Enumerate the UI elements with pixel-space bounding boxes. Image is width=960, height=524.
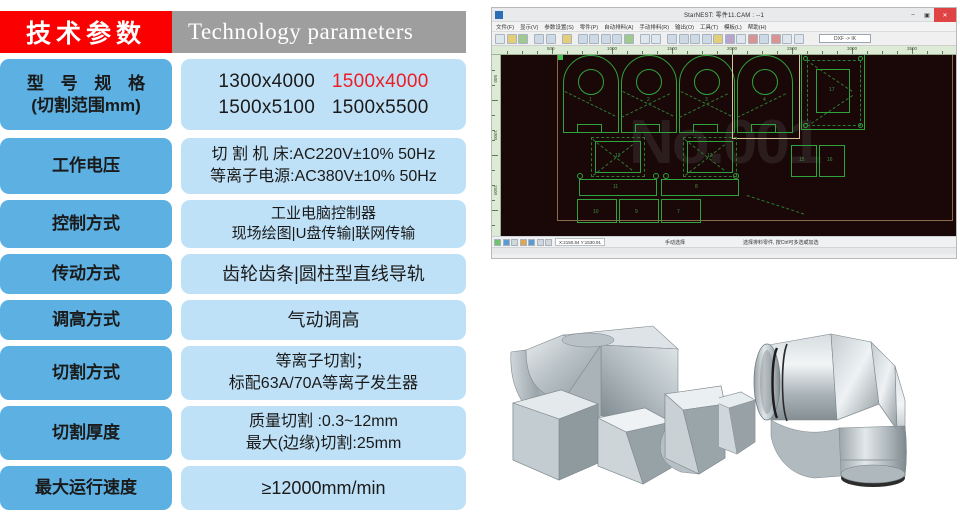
maximize-icon[interactable]: ▣ <box>920 8 934 22</box>
zoom-extents-icon[interactable] <box>589 34 599 44</box>
crosshair-icon[interactable] <box>545 239 552 246</box>
part-hole <box>694 69 720 95</box>
dxf-convert-field[interactable]: DXF -> IK <box>819 34 871 43</box>
menu-item-help[interactable]: 帮助(H) <box>748 23 767 31</box>
undo-icon[interactable] <box>794 34 804 44</box>
control-line-1: 工业电脑控制器 <box>271 204 376 224</box>
zoom-previous-icon[interactable] <box>601 34 611 44</box>
corner-hole <box>653 173 659 179</box>
table-icon[interactable] <box>736 34 746 44</box>
table-header: 技术参数 Technology parameters <box>0 11 466 53</box>
snap-grid-icon[interactable] <box>494 239 501 246</box>
row-label-cutting-method: 切割方式 <box>0 346 172 400</box>
toolbar-separator <box>635 34 638 44</box>
menu-item-file[interactable]: 文件(F) <box>496 23 514 31</box>
array-icon[interactable] <box>713 34 723 44</box>
ruler-h-label-1500: 1500 <box>667 46 677 51</box>
row-value-voltage: 切 割 机 床:AC220V±10% 50Hz 等离子电源:AC380V±10%… <box>181 138 466 194</box>
minimize-icon[interactable]: – <box>906 8 920 22</box>
nest-icon[interactable] <box>725 34 735 44</box>
model-value-1: 1300x4000 <box>218 71 315 92</box>
row-value-thickness: 质量切割 :0.3~12mm 最大(边缘)切割:25mm <box>181 406 466 460</box>
model-value-3: 1500x5100 <box>218 97 315 118</box>
row-value-model: 1300x4000 1500x4000 1500x5100 1500x5500 <box>181 59 466 130</box>
ruler-v-label-1500: 1500 <box>493 185 498 195</box>
row-value-cutting-method: 等离子切割； 标配63A/70A等离子发生器 <box>181 346 466 400</box>
menu-item-output[interactable]: 输出(O) <box>675 23 694 31</box>
ruler-h-label-3000: 3000 <box>847 46 857 51</box>
part-hole <box>636 69 662 95</box>
corner-hole <box>663 173 669 179</box>
table-row: 工作电压 切 割 机 床:AC220V±10% 50Hz 等离子电源:AC380… <box>0 138 466 194</box>
row-label-control: 控制方式 <box>0 200 172 248</box>
part-number: 7 <box>677 209 680 215</box>
toolbar-separator <box>530 34 533 44</box>
technology-parameters-table: 技术参数 Technology parameters 型 号 规 格 (切割范围… <box>0 0 480 524</box>
zoom-all-icon[interactable] <box>612 34 622 44</box>
part-hole <box>578 69 604 95</box>
model-value-2-highlight: 1500x4000 <box>332 71 429 92</box>
part-dash-outline <box>807 60 861 126</box>
height-adjust-line-1: 气动调高 <box>288 308 360 332</box>
table-row: 切割厚度 质量切割 :0.3~12mm 最大(边缘)切割:25mm <box>0 406 466 460</box>
part-tab <box>577 124 602 133</box>
cad-nesting-software-window[interactable]: StarNEST: 零件11.CAM : --1 – ▣ ✕ 文件(F) 显示(… <box>491 7 957 259</box>
thickness-line-2: 最大(边缘)切割:25mm <box>246 433 402 455</box>
selection-box <box>732 55 800 139</box>
statusbar: X:2150.84 Y:1530.91 手动选择 选择排料零件, 按Ctrl可多… <box>492 236 956 247</box>
status-hint-text: 选择排料零件, 按Ctrl可多选或加选 <box>743 239 819 246</box>
ruler-h-label-3500: 3500 <box>907 46 917 51</box>
menu-item-manual-nest[interactable]: 手动排料(R) <box>639 23 669 31</box>
layer-icon[interactable] <box>537 239 544 246</box>
horizontal-scrollbar[interactable] <box>492 247 956 254</box>
table-row: 切割方式 等离子切割； 标配63A/70A等离子发生器 <box>0 346 466 400</box>
close-icon[interactable]: ✕ <box>934 8 956 22</box>
round-elbow-photo <box>719 308 949 508</box>
row-label-max-speed: 最大运行速度 <box>0 466 172 510</box>
lock-icon[interactable] <box>759 34 769 44</box>
rotate-icon[interactable] <box>640 34 650 44</box>
transmission-line-1: 齿轮齿条|圆柱型直线导轨 <box>222 262 425 286</box>
grid-icon[interactable] <box>562 34 572 44</box>
row-label-model: 型 号 规 格 (切割范围mm) <box>0 59 172 130</box>
vertical-ruler: 500 1000 1500 <box>492 55 501 236</box>
snap-point-icon[interactable] <box>503 239 510 246</box>
toolbar-separator <box>663 34 666 44</box>
voltage-line-1: 切 割 机 床:AC220V±10% 50Hz <box>212 144 436 166</box>
pan-icon[interactable] <box>624 34 634 44</box>
table-row: 最大运行速度 ≥12000mm/min <box>0 466 466 510</box>
max-speed-line-1: ≥12000mm/min <box>262 476 386 500</box>
canvas-area[interactable]: 500 1000 1500 No.001 1 <box>492 55 956 236</box>
table-row: 型 号 规 格 (切割范围mm) 1300x4000 1500x4000 150… <box>0 59 466 130</box>
row-label-model-line1: 型 号 规 格 <box>21 73 151 94</box>
report-icon[interactable] <box>771 34 781 44</box>
align-up-icon[interactable] <box>690 34 700 44</box>
horizontal-ruler: 500 1000 1500 2000 2500 3000 3500 <box>492 46 956 55</box>
menu-item-tools[interactable]: 工具(T) <box>700 23 718 31</box>
part-number: 15 <box>799 157 805 163</box>
menu-item-settings[interactable]: 参数设置(S) <box>544 23 573 31</box>
menubar[interactable]: 文件(F) 显示(V) 参数设置(S) 零件(P) 自动排料(A) 手动排料(R… <box>492 22 956 32</box>
ruler-h-label-2500: 2500 <box>787 46 797 51</box>
window-title: StarNEST: 零件11.CAM : --1 <box>492 10 956 19</box>
align-right-icon[interactable] <box>702 34 712 44</box>
origin-marker <box>558 55 563 60</box>
cutting-method-line-2: 标配63A/70A等离子发生器 <box>229 373 418 395</box>
spec-sheet-page: 技术参数 Technology parameters 型 号 规 格 (切割范围… <box>0 0 960 524</box>
part-number: 10 <box>593 209 599 215</box>
toolbar[interactable]: DXF -> IK <box>492 32 956 46</box>
nested-part-strip <box>661 179 739 196</box>
part-tab <box>693 124 718 133</box>
save-file-icon[interactable] <box>518 34 528 44</box>
part-number: 11 <box>613 184 618 190</box>
part-tab <box>635 124 660 133</box>
menu-item-view[interactable]: 显示(V) <box>520 23 538 31</box>
table-row: 控制方式 工业电脑控制器 现场绘图|U盘传输|联网传输 <box>0 200 466 248</box>
row-label-voltage: 工作电压 <box>0 138 172 194</box>
ruler-v-label-1000: 1000 <box>493 130 498 140</box>
part-number: 9 <box>635 209 638 215</box>
table-row: 传动方式 齿轮齿条|圆柱型直线导轨 <box>0 254 466 294</box>
toolbar-separator <box>557 34 560 44</box>
control-line-2: 现场绘图|U盘传输|联网传输 <box>232 224 416 244</box>
row-value-height-adjust: 气动调高 <box>181 300 466 340</box>
menu-item-template[interactable]: 模板(L) <box>724 23 742 31</box>
row-value-control: 工业电脑控制器 现场绘图|U盘传输|联网传输 <box>181 200 466 248</box>
cursor-coordinates: X:2150.84 Y:1530.91 <box>555 238 605 246</box>
corner-hole <box>733 173 739 179</box>
row-value-transmission: 齿轮齿条|圆柱型直线导轨 <box>181 254 466 294</box>
ruler-v-label-500: 500 <box>493 75 498 83</box>
window-titlebar[interactable]: StarNEST: 零件11.CAM : --1 – ▣ ✕ <box>492 8 956 22</box>
ruler-h-label-500: 500 <box>547 46 555 51</box>
new-file-icon[interactable] <box>495 34 505 44</box>
polar-icon[interactable] <box>528 239 535 246</box>
nested-part <box>661 199 701 223</box>
header-title-en: Technology parameters <box>172 11 466 53</box>
nested-part <box>619 199 659 223</box>
voltage-line-2: 等离子电源:AC380V±10% 50Hz <box>210 166 437 188</box>
row-label-transmission: 传动方式 <box>0 254 172 294</box>
menu-item-parts[interactable]: 零件(P) <box>580 23 598 31</box>
row-label-height-adjust: 调高方式 <box>0 300 172 340</box>
nesting-drawing-canvas[interactable]: No.001 1 2 3 4 <box>501 55 956 236</box>
table-row: 调高方式 气动调高 <box>0 300 466 340</box>
delete-icon[interactable] <box>748 34 758 44</box>
duct-fittings-photo <box>493 308 728 508</box>
status-icon-group[interactable] <box>492 239 552 246</box>
menu-item-auto-nest[interactable]: 自动排料(A) <box>604 23 633 31</box>
ruler-h-label-1000: 1000 <box>607 46 617 51</box>
thickness-line-1: 质量切割 :0.3~12mm <box>249 411 398 433</box>
row-label-thickness: 切割厚度 <box>0 406 172 460</box>
part-number: 8 <box>695 184 698 190</box>
row-value-max-speed: ≥12000mm/min <box>181 466 466 510</box>
row-label-model-line2: (切割范围mm) <box>21 95 151 116</box>
ruler-h-label-2000: 2000 <box>727 46 737 51</box>
zoom-out-minus-icon[interactable] <box>546 34 556 44</box>
header-title-cn: 技术参数 <box>0 11 172 53</box>
select-icon[interactable] <box>782 34 792 44</box>
zoom-window-icon[interactable] <box>578 34 588 44</box>
osnap-icon[interactable] <box>520 239 527 246</box>
open-file-icon[interactable] <box>507 34 517 44</box>
part-number: 16 <box>827 157 833 163</box>
zoom-in-plus-icon[interactable] <box>534 34 544 44</box>
corner-hole <box>577 173 583 179</box>
toolbar-separator <box>573 34 576 44</box>
product-photos <box>491 300 957 515</box>
model-value-4: 1500x5500 <box>332 97 429 118</box>
cutting-method-line-1: 等离子切割； <box>275 351 371 373</box>
status-mode-text: 手动选择 <box>665 239 685 246</box>
ortho-icon[interactable] <box>511 239 518 246</box>
window-controls[interactable]: – ▣ ✕ <box>906 8 956 22</box>
align-down-icon[interactable] <box>679 34 689 44</box>
align-left-icon[interactable] <box>667 34 677 44</box>
mirror-icon[interactable] <box>651 34 661 44</box>
